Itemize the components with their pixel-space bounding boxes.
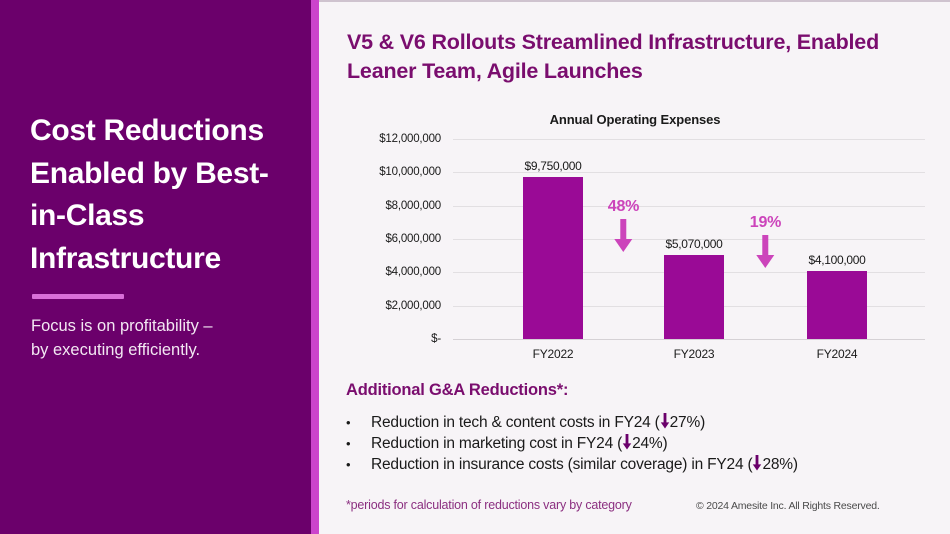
y-axis-tick-label: $10,000,000 xyxy=(379,166,441,178)
arrow-down-icon xyxy=(756,235,776,269)
y-axis: $12,000,000$10,000,000$8,000,000$6,000,0… xyxy=(335,139,447,339)
bullet-list: •Reduction in tech & content costs in FY… xyxy=(346,413,946,476)
content-title: V5 & V6 Rollouts Streamlined Infrastruct… xyxy=(347,28,937,85)
bullet-text-before: Reduction in tech & content costs in FY2… xyxy=(371,414,660,431)
bar-fy2023[interactable] xyxy=(664,255,724,340)
reduction-annotation: 19% xyxy=(750,214,781,274)
bullet-text-after: 27%) xyxy=(670,414,705,431)
y-axis-tick-label: $8,000,000 xyxy=(385,200,441,212)
title-underline-rule xyxy=(32,294,124,299)
left-panel: Cost Reductions Enabled by Best-in-Class… xyxy=(0,0,311,534)
bullet-text-before: Reduction in marketing cost in FY24 ( xyxy=(371,435,622,452)
reduction-percent-label: 19% xyxy=(750,214,781,232)
right-panel: V5 & V6 Rollouts Streamlined Infrastruct… xyxy=(319,0,950,534)
bullet-text-after: 28%) xyxy=(762,456,797,473)
arrow-down-icon xyxy=(752,455,762,476)
bullet-text: Reduction in tech & content costs in FY2… xyxy=(371,413,705,434)
y-axis-tick-label: $- xyxy=(431,333,441,345)
reduction-annotation: 48% xyxy=(608,198,639,258)
bar-value-label: $9,750,000 xyxy=(524,159,581,173)
arrow-down-icon xyxy=(660,413,670,429)
reduction-percent-label: 48% xyxy=(608,198,639,216)
arrow-down-icon xyxy=(752,455,762,471)
arrow-down-icon xyxy=(750,235,781,274)
x-axis-tick-label: FY2024 xyxy=(817,347,858,361)
bullet-item: •Reduction in marketing cost in FY24 (24… xyxy=(346,434,946,455)
bar-fy2024[interactable] xyxy=(807,271,867,339)
chart-bars: $9,750,000FY2022$5,070,000FY2023$4,100,0… xyxy=(453,139,925,339)
y-axis-tick-label: $4,000,000 xyxy=(385,266,441,278)
slide-subtitle-line-1: Focus is on profitability – xyxy=(31,315,296,339)
bullet-item: •Reduction in insurance costs (similar c… xyxy=(346,455,946,476)
bar-fy2022[interactable] xyxy=(523,177,583,340)
arrow-down-icon xyxy=(608,219,639,258)
gridline xyxy=(453,339,925,340)
chart-plot-area: $12,000,000$10,000,000$8,000,000$6,000,0… xyxy=(335,139,935,339)
chart-title: Annual Operating Expenses xyxy=(335,112,935,127)
bullet-text-after: 24%) xyxy=(632,435,667,452)
bullet-text: Reduction in marketing cost in FY24 (24%… xyxy=(371,434,667,455)
panel-top-border xyxy=(319,0,950,2)
bar-value-label: $4,100,000 xyxy=(808,253,865,267)
footnote: *periods for calculation of reductions v… xyxy=(346,498,632,512)
arrow-down-icon xyxy=(614,219,634,253)
bullet-text: Reduction in insurance costs (similar co… xyxy=(371,455,798,476)
bullet-marker: • xyxy=(346,415,371,430)
slide-headline: Cost Reductions Enabled by Best-in-Class… xyxy=(30,110,298,280)
bullet-marker: • xyxy=(346,436,371,451)
arrow-down-icon xyxy=(622,434,632,450)
bullet-text-before: Reduction in insurance costs (similar co… xyxy=(371,456,752,473)
slide-subtitle-line-2: by executing efficiently. xyxy=(31,339,296,363)
y-axis-tick-label: $6,000,000 xyxy=(385,233,441,245)
bar-value-label: $5,070,000 xyxy=(665,237,722,251)
x-axis-tick-label: FY2022 xyxy=(533,347,574,361)
copyright-notice: © 2024 Amesite Inc. All Rights Reserved. xyxy=(696,500,880,512)
panel-divider-stripe xyxy=(311,0,319,534)
bullets-heading: Additional G&A Reductions*: xyxy=(346,381,568,400)
annual-operating-expenses-chart: Annual Operating Expenses $12,000,000$10… xyxy=(335,112,935,362)
x-axis-tick-label: FY2023 xyxy=(674,347,715,361)
y-axis-tick-label: $2,000,000 xyxy=(385,300,441,312)
slide-subtitle: Focus is on profitability – by executing… xyxy=(31,315,296,363)
y-axis-tick-label: $12,000,000 xyxy=(379,133,441,145)
arrow-down-icon xyxy=(622,434,632,455)
arrow-down-icon xyxy=(660,413,670,434)
bullet-item: •Reduction in tech & content costs in FY… xyxy=(346,413,946,434)
bullet-marker: • xyxy=(346,457,371,472)
slide: Cost Reductions Enabled by Best-in-Class… xyxy=(0,0,950,534)
